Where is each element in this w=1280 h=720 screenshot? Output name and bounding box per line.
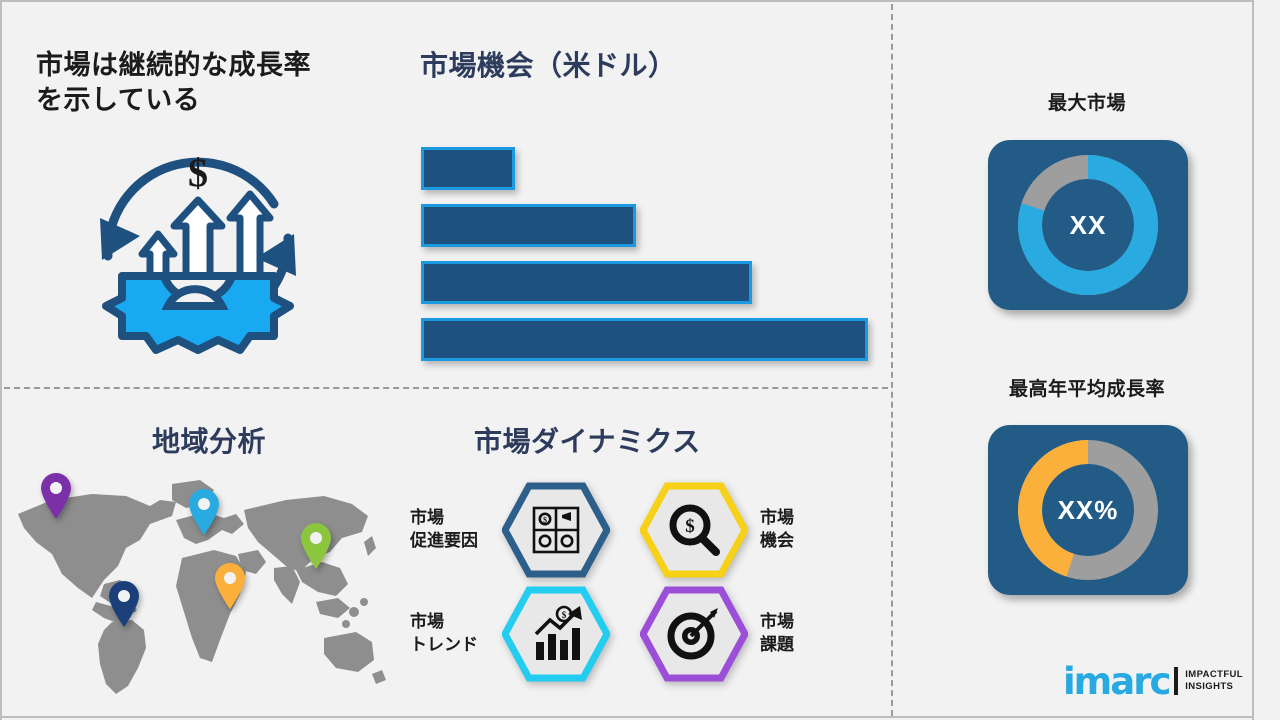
dynamics-item-drivers[interactable]: 市場 促進要因 $ — [410, 482, 610, 578]
hexagon-challenges — [640, 586, 748, 682]
imarc-logo: imarc IMPACTFUL INSIGHTS — [1063, 658, 1243, 704]
logo-tagline-line2: INSIGHTS — [1185, 681, 1243, 693]
imarc-wordmark: imarc — [1063, 663, 1169, 700]
growth-gear-arrows-icon: $ — [78, 126, 318, 366]
growth-section-title: 市場は継続的な成長率 を示している — [36, 48, 386, 118]
opportunity-bar-chart — [421, 147, 881, 347]
svg-text:$: $ — [543, 516, 547, 525]
pin-east-asia — [300, 522, 332, 570]
regional-section-title: 地域分析 — [152, 424, 266, 460]
largest-market-card: XX — [988, 140, 1188, 310]
slide-border-top — [0, 0, 1254, 2]
pin-south-america — [108, 580, 140, 628]
hexagon-opportunities: $ — [640, 482, 748, 578]
highest-cagr-donut-chart — [988, 425, 1188, 595]
bar-row-1 — [421, 147, 515, 190]
bar-row-4 — [421, 318, 868, 361]
dynamics-label-drivers: 市場 促進要因 — [410, 507, 502, 553]
dynamics-section-title: 市場ダイナミクス — [474, 424, 701, 460]
highest-cagr-title: 最高年平均成長率 — [962, 378, 1212, 403]
logo-tagline-line1: IMPACTFUL — [1185, 669, 1243, 681]
horizontal-dashed-divider — [4, 387, 888, 389]
largest-market-donut-chart — [988, 140, 1188, 310]
hexagon-drivers: $ — [502, 482, 610, 578]
pin-europe — [188, 488, 220, 536]
bar-row-3 — [421, 261, 752, 304]
svg-text:$: $ — [685, 516, 695, 537]
pin-middle-east-africa — [214, 562, 246, 610]
slide-border-right — [1252, 0, 1254, 720]
opportunity-section-title: 市場機会（米ドル） — [420, 48, 880, 84]
svg-text:$: $ — [562, 610, 567, 620]
dynamics-item-trends[interactable]: 市場 トレンド $ — [410, 586, 610, 682]
dynamics-label-opportunities: 市場 機会 — [760, 507, 840, 553]
pin-north-america — [40, 472, 72, 520]
hexagon-trends: $ — [502, 586, 610, 682]
dynamics-label-trends: 市場 トレンド — [410, 611, 502, 657]
logo-divider-bar — [1174, 667, 1178, 695]
world-map — [0, 462, 400, 697]
dynamics-label-challenges: 市場 課題 — [760, 611, 840, 657]
slide-canvas: 市場は継続的な成長率 を示している $ 市場機会（米ドル） 地域分析 — [0, 0, 1280, 720]
dynamics-item-opportunities[interactable]: $ 市場 機会 — [640, 482, 840, 578]
slide-border-bottom — [0, 716, 1254, 718]
largest-market-title: 最大市場 — [962, 92, 1212, 117]
highest-cagr-card: XX% — [988, 425, 1188, 595]
bar-row-2 — [421, 204, 636, 247]
svg-text:$: $ — [188, 150, 208, 195]
vertical-dashed-divider — [891, 4, 893, 716]
dynamics-item-challenges[interactable]: 市場 課題 — [640, 586, 840, 682]
